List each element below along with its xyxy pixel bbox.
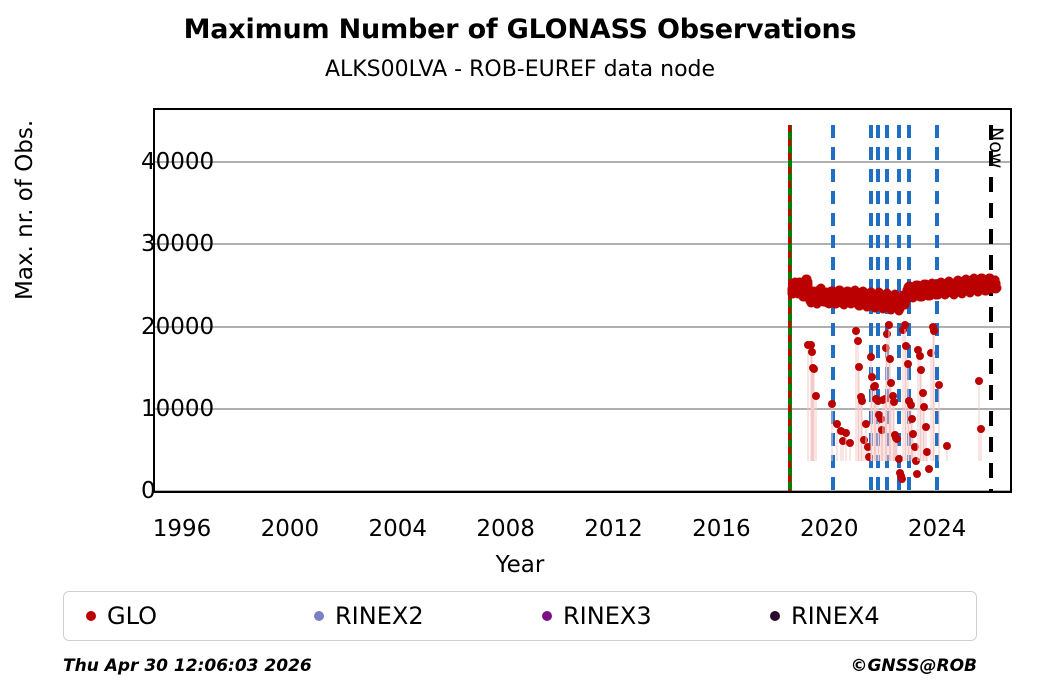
data-point-stem <box>934 331 935 461</box>
now-line <box>989 125 993 491</box>
legend-marker-icon <box>770 611 780 621</box>
data-point-glo <box>904 360 912 368</box>
x-tick-label: 2012 <box>584 516 643 542</box>
data-point-glo <box>852 327 860 335</box>
legend-item-rinex4[interactable]: RINEX4 <box>748 602 976 630</box>
data-point-glo <box>808 348 816 356</box>
plot-area <box>153 108 1012 493</box>
legend-marker-icon <box>542 611 552 621</box>
data-point-glo <box>909 430 917 438</box>
data-point-glo <box>943 442 951 450</box>
legend-marker-icon <box>314 611 324 621</box>
data-point-glo <box>930 327 938 335</box>
data-point-glo <box>828 400 836 408</box>
data-point-glo <box>867 353 875 361</box>
legend-label: RINEX3 <box>563 602 652 630</box>
legend-label: GLO <box>107 602 157 630</box>
data-point-glo <box>858 397 866 405</box>
data-point-glo <box>925 465 933 473</box>
data-point-glo <box>893 435 901 443</box>
footer-timestamp: Thu Apr 30 12:06:03 2026 <box>63 656 312 676</box>
gridline-y <box>155 243 1010 245</box>
data-point-glo <box>917 366 925 374</box>
data-point-glo <box>854 337 862 345</box>
data-point-glo <box>812 392 820 400</box>
data-point-glo <box>895 455 903 463</box>
now-label: Now <box>985 127 1007 168</box>
data-point-stem <box>862 401 863 461</box>
data-point-glo <box>885 321 893 329</box>
data-point-glo <box>907 401 915 409</box>
data-point-glo <box>886 355 894 363</box>
data-point-glo <box>887 379 895 387</box>
data-point-glo <box>890 398 898 406</box>
data-point-glo <box>862 420 870 428</box>
data-point-stem <box>808 345 809 461</box>
data-point-glo <box>920 403 928 411</box>
data-point-glo <box>846 439 854 447</box>
data-point-glo <box>919 389 927 397</box>
data-point-stem <box>846 433 847 461</box>
legend-marker-icon <box>86 611 96 621</box>
data-point-glo <box>842 429 850 437</box>
x-tick-label: 2004 <box>368 516 427 542</box>
data-point-glo <box>992 279 1001 288</box>
x-tick-label: 2008 <box>476 516 535 542</box>
legend-label: RINEX4 <box>791 602 880 630</box>
data-point-glo <box>916 352 924 360</box>
data-point-glo <box>975 377 983 385</box>
x-tick-label: 2020 <box>800 516 859 542</box>
legend-item-rinex3[interactable]: RINEX3 <box>520 602 748 630</box>
data-point-stem <box>980 429 981 461</box>
x-tick-label: 1996 <box>153 516 212 542</box>
gridline-y <box>155 161 1010 163</box>
data-point-glo <box>922 423 930 431</box>
chart-legend: GLORINEX2RINEX3RINEX4 <box>63 591 977 641</box>
x-tick-label: 2016 <box>692 516 751 542</box>
data-point-glo <box>908 415 916 423</box>
legend-item-glo[interactable]: GLO <box>64 602 292 630</box>
y-axis-title: Max. nr. of Obs. <box>12 120 38 300</box>
chart-title: Maximum Number of GLONASS Observations <box>0 14 1040 45</box>
data-point-glo <box>871 382 879 390</box>
data-point-stem <box>831 404 832 461</box>
x-tick-label: 2000 <box>261 516 320 542</box>
data-point-glo <box>855 363 863 371</box>
data-point-glo <box>868 373 876 381</box>
data-point-glo <box>902 342 910 350</box>
data-point-stem <box>816 396 817 461</box>
footer-copyright: ©GNSS@ROB <box>850 656 977 676</box>
x-tick-label: 2024 <box>908 516 967 542</box>
gridline-y <box>155 326 1010 328</box>
data-point-glo <box>935 381 943 389</box>
data-point-glo <box>913 470 921 478</box>
data-point-glo <box>810 365 818 373</box>
data-point-stem <box>978 381 979 461</box>
legend-label: RINEX2 <box>335 602 424 630</box>
chart-subtitle: ALKS00LVA - ROB-EUREF data node <box>0 57 1040 82</box>
x-axis-title: Year <box>0 552 1040 578</box>
data-point-glo <box>977 425 985 433</box>
data-point-glo <box>898 475 906 483</box>
legend-item-rinex2[interactable]: RINEX2 <box>292 602 520 630</box>
data-start-line-overlay <box>788 125 791 491</box>
data-point-stem <box>813 369 814 461</box>
data-point-glo <box>901 321 909 329</box>
data-point-stem <box>938 385 939 461</box>
plot-inner-surface <box>155 125 1010 491</box>
